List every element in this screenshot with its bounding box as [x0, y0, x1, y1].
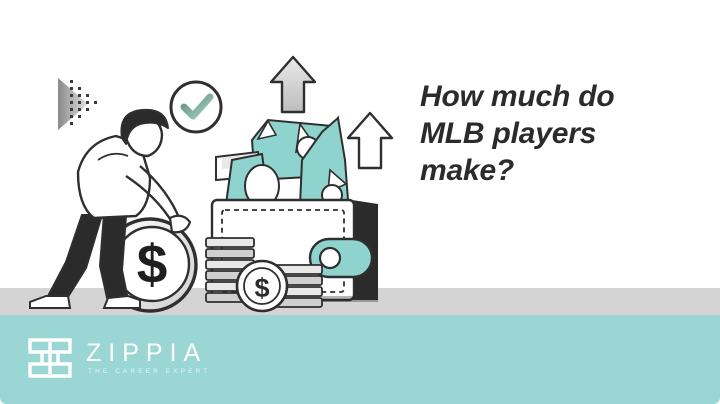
svg-text:$: $ — [254, 273, 269, 303]
banknotes — [216, 118, 348, 207]
check-badge-icon — [171, 82, 221, 132]
headline-line-3: make? — [420, 152, 680, 189]
zippia-z-mark-icon — [28, 338, 72, 378]
infographic-canvas: $ $ — [0, 0, 720, 404]
page-title: How much do MLB players make? — [420, 78, 680, 189]
halftone-triangle-dots — [58, 78, 97, 130]
svg-text:$: $ — [137, 233, 168, 295]
headline-line-1: How much do — [420, 78, 680, 115]
arrow-up-outline — [348, 113, 392, 168]
logo-tagline: THE CAREER EXPERT — [86, 366, 210, 377]
logo-wordmark: ZIPPIA — [86, 340, 210, 366]
arrow-up-filled — [271, 57, 315, 112]
headline-line-2: MLB players — [420, 115, 680, 152]
small-dollar-coin: $ — [237, 261, 287, 311]
zippia-logo: ZIPPIA THE CAREER EXPERT — [28, 338, 210, 378]
